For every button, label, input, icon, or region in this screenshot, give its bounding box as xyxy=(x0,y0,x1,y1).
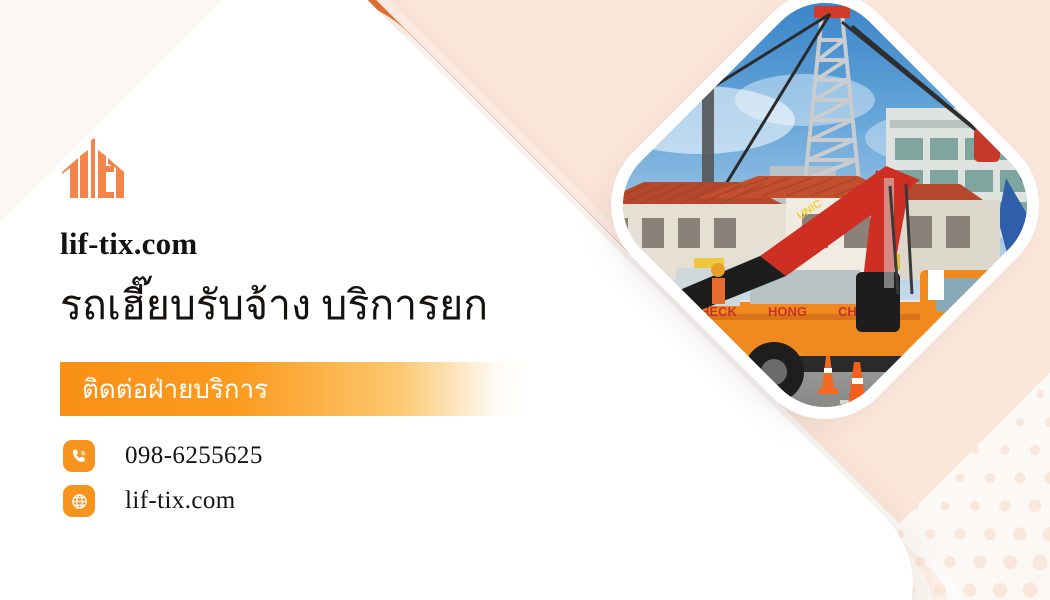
contact-row-phone[interactable]: 098-6255625 xyxy=(63,434,483,478)
website-url: lif-tix.com xyxy=(125,487,236,515)
cta-bar[interactable]: ติดต่อฝ่ายบริการ xyxy=(60,362,530,416)
svg-text:HONG: HONG xyxy=(768,304,807,319)
contact-list: 098-6255625 lif-tix.com xyxy=(63,434,483,524)
brand-name: lif-tix.com xyxy=(60,226,197,262)
building-logo-icon xyxy=(60,138,128,200)
globe-icon xyxy=(63,485,95,517)
promotional-banner: HECKHONGCHON UN xyxy=(0,0,1050,600)
phone-number: 098-6255625 xyxy=(125,442,263,470)
headline-text: รถเฮี๊ยบรับจ้าง บริการยก xyxy=(60,282,488,329)
cta-label: ติดต่อฝ่ายบริการ xyxy=(60,369,268,410)
banner-content: lif-tix.com รถเฮี๊ยบรับจ้าง บริการยก ติด… xyxy=(60,0,680,600)
contact-row-website[interactable]: lif-tix.com xyxy=(63,479,483,523)
phone-icon xyxy=(63,440,95,472)
